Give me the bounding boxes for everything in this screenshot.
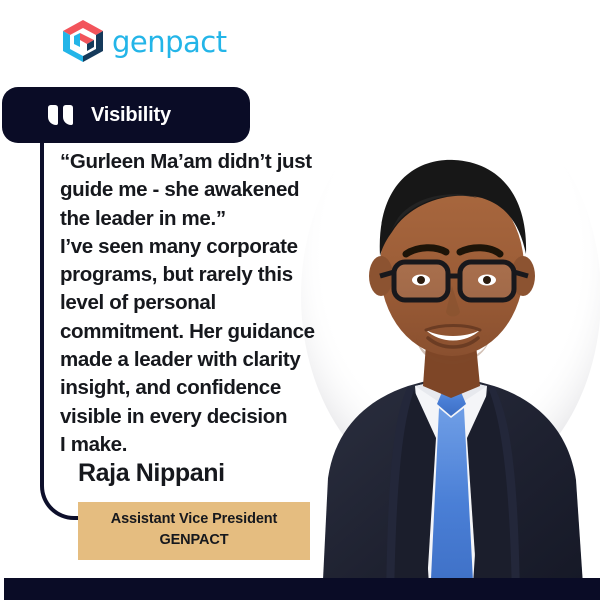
genpact-cube-icon <box>62 19 104 63</box>
quote-line: visible in every decision <box>60 403 360 431</box>
quote-line: I make. <box>60 431 360 459</box>
bottom-accent-bar <box>4 578 600 600</box>
quote-line: programs, but rarely this <box>60 261 360 289</box>
role-banner: Assistant Vice President GENPACT <box>78 502 310 560</box>
brand-logo: genpact <box>62 18 227 64</box>
quote-line: made a leader with clarity <box>60 346 360 374</box>
quote-line: “Gurleen Ma’am didn’t just <box>60 148 360 176</box>
genpact-wordmark: genpact <box>112 28 227 57</box>
testimonial-card: genpact Visibility <box>0 0 600 600</box>
quote-line: insight, and confidence <box>60 374 360 402</box>
visibility-badge: Visibility <box>2 87 250 143</box>
quote-line: level of personal <box>60 289 360 317</box>
quote-line: I’ve seen many corporate <box>60 233 360 261</box>
quote-line: guide me - she awakened <box>60 176 360 204</box>
quote-line: the leader in me.” <box>60 205 360 233</box>
quote-text: “Gurleen Ma’am didn’t just guide me - sh… <box>60 148 360 459</box>
person-name: Raja Nippani <box>78 459 225 488</box>
quote-line: commitment. Her guidance <box>60 318 360 346</box>
badge-label: Visibility <box>91 104 171 127</box>
person-role: Assistant Vice President <box>78 509 310 530</box>
person-company: GENPACT <box>78 530 310 551</box>
double-quote-icon <box>48 105 73 125</box>
